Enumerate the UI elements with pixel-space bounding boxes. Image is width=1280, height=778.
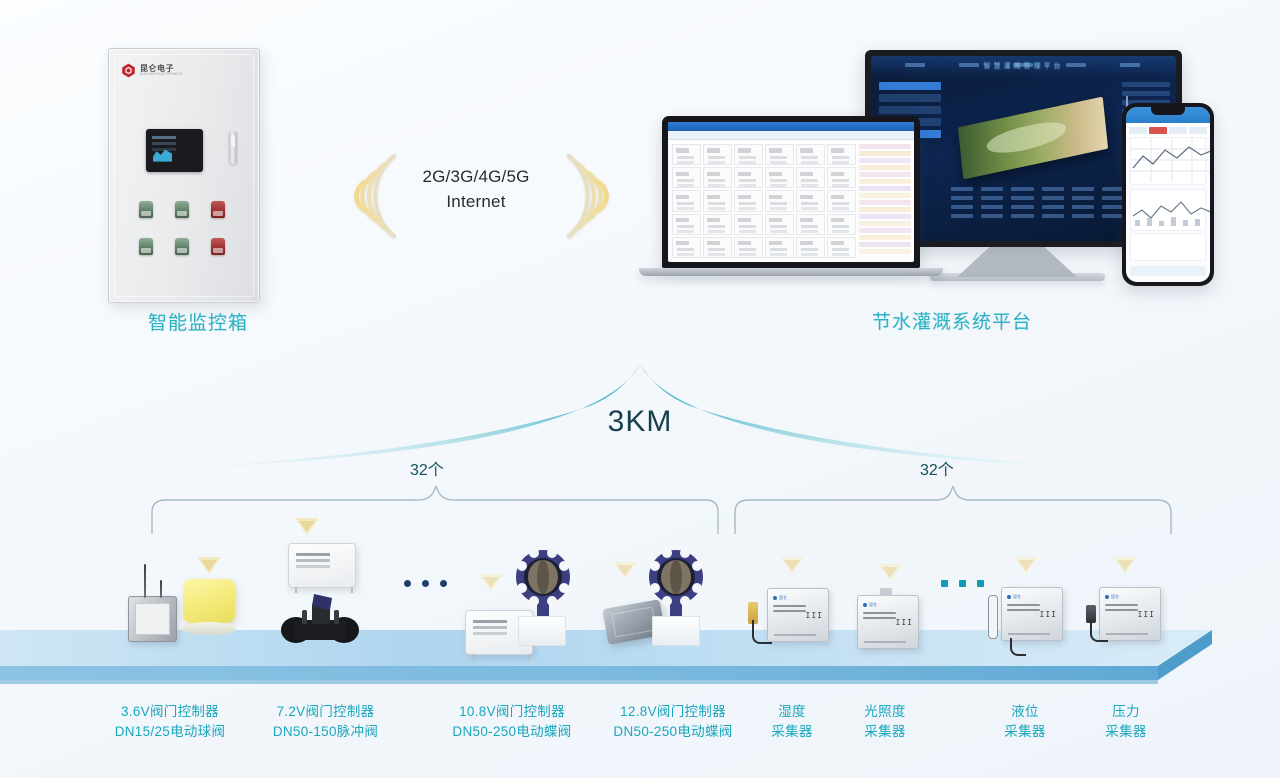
phone-tab[interactable] [1189, 127, 1207, 134]
sensor-brand-logo-icon: 昆仑 [1007, 594, 1021, 600]
sensor-cable-3 [1090, 620, 1108, 642]
indicator-button-grid [139, 201, 233, 255]
monitor-nav-item[interactable] [905, 63, 925, 67]
indicator-green-4[interactable] [175, 238, 189, 255]
ellipsis-dot [977, 580, 984, 587]
monitor-nav-item[interactable] [1013, 63, 1033, 67]
humidity-collector-device: 昆仑 III [767, 588, 829, 642]
laptop-plot-grid [672, 144, 856, 258]
liquid-level-collector-device: 昆仑 III [1001, 587, 1063, 641]
rtu-antenna-short-icon [160, 580, 162, 598]
brand-logo-text: 昆仑电子 KUNLUN ELECTRONICS [140, 65, 183, 77]
bracket-left-count: 32个 [410, 456, 444, 480]
ellipsis-dot [404, 580, 411, 587]
rtu-antenna-icon [144, 564, 146, 598]
monitor-nav-item[interactable] [959, 63, 979, 67]
phone-tab[interactable] [1169, 127, 1187, 134]
light-sensor-head-icon [880, 588, 892, 596]
signal-cone-3-icon [478, 572, 504, 592]
label-line-1: 液位 [985, 702, 1065, 722]
table-row [951, 196, 1124, 200]
label-line-1: 3.6V阀门控制器 [95, 702, 245, 722]
hmi-screen-content [149, 132, 200, 169]
signal-cone-1-icon [196, 555, 222, 575]
rtu-faceplate [135, 603, 170, 635]
phone-tab-active[interactable] [1149, 127, 1167, 134]
sensor-display: III [1040, 610, 1057, 619]
butterfly-valve-device-1 [512, 545, 568, 619]
wifi-waves-left-icon [336, 150, 398, 242]
label-line-1: 12.8V阀门控制器 [593, 702, 753, 722]
smart-control-cabinet: 昆仑电子 KUNLUN ELECTRONICS [108, 48, 260, 303]
laptop [662, 116, 920, 281]
label-controller-3: 10.8V阀门控制器 DN50-250电动蝶阀 [432, 702, 592, 743]
ellipsis-left [404, 580, 447, 587]
phone-screen [1126, 107, 1210, 282]
label-line-2: 采集器 [840, 722, 930, 742]
sensor-model-line [1106, 633, 1148, 635]
monitor-nav-item[interactable] [1066, 63, 1086, 67]
label-controller-1: 3.6V阀门控制器 DN15/25电动球阀 [95, 702, 245, 743]
bracket-left-controllers [150, 486, 720, 539]
phone-chart-middle [1130, 189, 1206, 231]
caption-control-cabinet: 智能监控箱 [148, 308, 248, 335]
sensor-label-lines [1007, 604, 1040, 614]
table-row [951, 214, 1124, 218]
network-internet: Internet [396, 190, 556, 215]
phone-tab[interactable] [1129, 127, 1147, 134]
label-line-1: 10.8V阀门控制器 [432, 702, 592, 722]
cabinet-inner-border [114, 54, 254, 297]
pressure-collector-device: 昆仑 III [1099, 587, 1161, 641]
table-row [951, 205, 1124, 209]
label-sensor-1: 湿度 采集器 [752, 702, 832, 743]
ellipsis-dot [959, 580, 966, 587]
ellipsis-dot [440, 580, 447, 587]
indicator-red-1[interactable] [211, 201, 225, 218]
label-controller-4: 12.8V阀门控制器 DN50-250电动蝶阀 [593, 702, 753, 743]
laptop-lid [662, 116, 920, 268]
signal-cone-6-icon [877, 562, 903, 582]
label-sensor-4: 压力 采集器 [1086, 702, 1166, 743]
field-3d-model [958, 97, 1108, 180]
laptop-screen [668, 122, 914, 262]
indicator-red-2[interactable] [211, 238, 225, 255]
illuminance-collector-device: 昆仑 III [857, 595, 919, 649]
solar-panel-device [183, 579, 235, 623]
phone-chart-top [1130, 137, 1206, 185]
signal-cone-8-icon [1112, 555, 1138, 575]
laptop-app-toolbar [668, 131, 914, 140]
smartphone [1122, 103, 1214, 286]
valve-pedestal-1 [518, 616, 566, 646]
signal-cone-4-icon [612, 560, 638, 580]
sensor-label-lines [1105, 604, 1138, 614]
laptop-side-list [859, 144, 911, 258]
bracket-right-sensors [733, 486, 1173, 539]
range-label: 3KM [0, 405, 1280, 439]
monitor-panel-row[interactable] [1122, 91, 1170, 96]
label-line-1: 7.2V阀门控制器 [248, 702, 403, 722]
label-line-2: DN15/25电动球阀 [95, 722, 245, 742]
wall-box-label [473, 620, 507, 623]
label-line-1: 压力 [1086, 702, 1166, 722]
sensor-cable-1 [752, 620, 772, 644]
sensor-model-line [864, 641, 906, 643]
phone-footer-bar [1130, 266, 1206, 276]
sensor-display: III [896, 618, 913, 627]
network-generations: 2G/3G/4G/5G [396, 165, 556, 190]
label-line-2: 采集器 [752, 722, 832, 742]
sensor-model-line [1008, 633, 1050, 635]
brand-subtitle: KUNLUN ELECTRONICS [140, 73, 183, 77]
laptop-base [639, 268, 943, 276]
sensor-brand-logo-icon: 昆仑 [863, 602, 877, 608]
sensor-display: III [1138, 610, 1155, 619]
label-line-1: 湿度 [752, 702, 832, 722]
hmi-touchscreen[interactable] [146, 129, 203, 172]
logo-mark-icon [121, 63, 136, 78]
label-line-2: DN50-250电动蝶阀 [593, 722, 753, 742]
monitor-data-table [951, 187, 1124, 223]
label-line-2: 采集器 [985, 722, 1065, 742]
indicator-green-2[interactable] [175, 201, 189, 218]
label-controller-2: 7.2V阀门控制器 DN50-150脉冲阀 [248, 702, 403, 743]
sensor-label-lines [773, 605, 806, 615]
diagram-canvas: 昆仑电子 KUNLUN ELECTRONICS 智能监控箱 [0, 0, 1280, 778]
label-sensor-3: 液位 采集器 [985, 702, 1065, 743]
label-sensor-2: 光照度 采集器 [840, 702, 930, 743]
indicator-green-3[interactable] [139, 238, 153, 255]
label-line-2: DN50-250电动蝶阀 [432, 722, 592, 742]
label-line-2: DN50-150脉冲阀 [248, 722, 403, 742]
level-probe-tube-icon [988, 595, 998, 639]
sensor-model-line [774, 634, 816, 636]
sensor-brand-logo-icon: 昆仑 [1105, 594, 1119, 600]
network-label: 2G/3G/4G/5G Internet [396, 165, 556, 214]
laptop-app-titlebar [668, 122, 914, 131]
wall-controller-box-1 [288, 543, 356, 588]
bracket-right-count: 32个 [920, 456, 954, 480]
ellipsis-right [941, 580, 984, 587]
monitor-panel-row[interactable] [879, 82, 941, 90]
signal-cone-2-icon [294, 516, 320, 536]
butterfly-valve-device-2 [645, 545, 701, 619]
caption-platform: 节水灌溉系统平台 [872, 307, 1032, 334]
label-line-1: 光照度 [840, 702, 930, 722]
table-row [951, 187, 1124, 191]
wall-box-label [296, 553, 330, 556]
indicator-green-1[interactable] [139, 201, 153, 218]
ellipsis-dot [941, 580, 948, 587]
signal-cone-7-icon [1013, 555, 1039, 575]
monitor-nav-item[interactable] [1120, 63, 1140, 67]
valve-pedestal-2 [652, 616, 700, 646]
signal-cone-5-icon [779, 555, 805, 575]
phone-notch [1151, 107, 1185, 115]
brand-logo: 昆仑电子 KUNLUN ELECTRONICS [121, 63, 183, 78]
monitor-nav [905, 63, 1140, 67]
sensor-label-lines [863, 612, 896, 622]
label-line-2: 采集器 [1086, 722, 1166, 742]
wifi-waves-right-icon [565, 150, 627, 242]
sensor-cable-2 [1010, 638, 1026, 656]
sensor-brand-logo-icon: 昆仑 [773, 595, 787, 601]
solar-panel-stand [182, 622, 236, 635]
pulse-valve-device [278, 592, 352, 634]
ellipsis-dot [422, 580, 429, 587]
phone-chart-bottom [1130, 233, 1206, 261]
cabinet-door-handle[interactable] [229, 131, 237, 164]
sensor-display: III [806, 611, 823, 620]
rtu-body [128, 596, 177, 642]
monitor-panel-row[interactable] [879, 94, 941, 102]
monitor-panel-row[interactable] [1122, 82, 1170, 87]
monitor-panel-row[interactable] [879, 106, 941, 114]
